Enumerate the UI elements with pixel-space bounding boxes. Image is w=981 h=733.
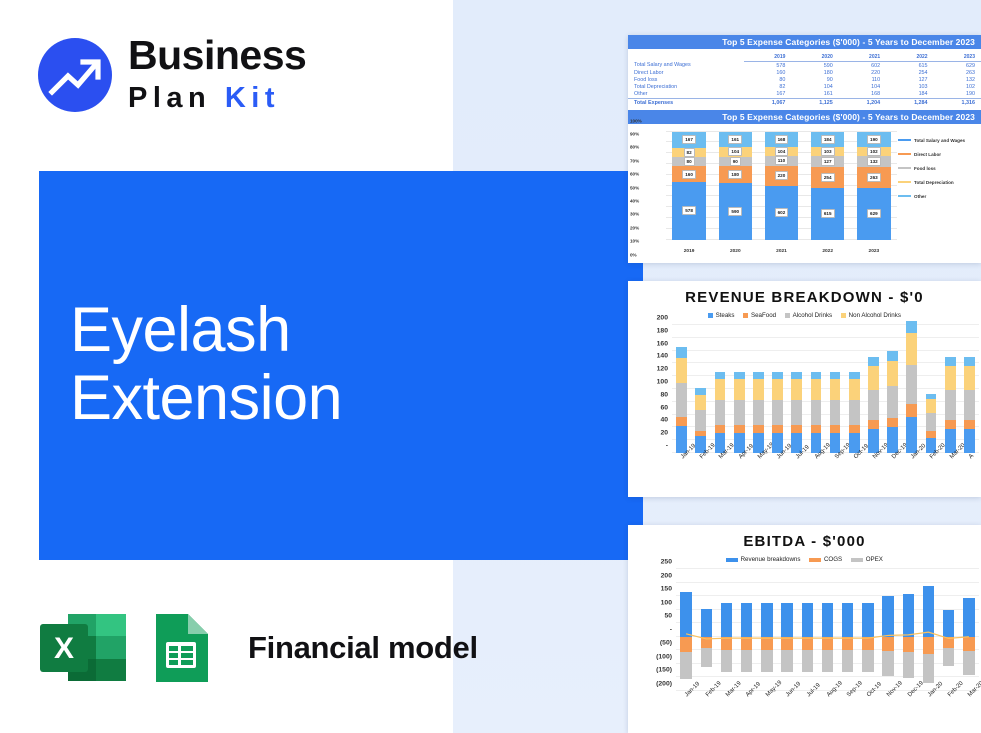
legend-swatch: [785, 313, 790, 318]
bar-segment: [887, 418, 898, 428]
bar-segment: [791, 425, 802, 433]
bar-segment: [734, 425, 745, 433]
table-col-header: 2020: [791, 53, 838, 62]
table-row: Food loss8090110127132: [628, 76, 981, 83]
legend-swatch: [898, 167, 911, 168]
bar-segment: [849, 400, 860, 425]
bar-value-label: 180: [728, 170, 742, 179]
table-cell: 168: [839, 91, 886, 99]
legend-swatch: [809, 558, 821, 562]
legend-item: Total Salary and Wages: [898, 138, 978, 143]
bar-segment: 127: [811, 156, 844, 167]
bar-group: [676, 347, 687, 453]
table-cell: 615: [886, 62, 933, 70]
table-row-label: Food loss: [628, 76, 744, 83]
table-header-row: 20192020202120222023: [628, 53, 981, 62]
bar-segment: [811, 379, 822, 399]
table-row: Total Salary and Wages578590602615629: [628, 62, 981, 70]
y-axis-tick-label: 0%: [630, 252, 637, 257]
bar-segment: [945, 390, 956, 419]
bar-segment: 602: [765, 186, 798, 240]
bar-segment: 167: [672, 132, 705, 149]
bar-segment: [868, 420, 879, 429]
y-axis-tick-label: 200: [657, 315, 668, 322]
page-title: Eyelash Extension: [70, 296, 630, 432]
bar-segment: [715, 372, 726, 380]
bar-segment: [676, 417, 687, 426]
bar-value-label: 127: [821, 157, 835, 166]
bar-group: 1678280160578: [666, 132, 712, 240]
bar-segment: [849, 379, 860, 399]
ebitda-chart-legend: Revenue breakdownsCOGSOPEX: [628, 556, 981, 563]
revenue-chart-legend: SteaksSeaFoodAlcohol DrinksNon Alcohol D…: [628, 312, 981, 319]
bar-segment: 184: [811, 132, 844, 147]
y-axis-tick-label: 150: [661, 586, 672, 593]
legend-swatch: [708, 313, 713, 318]
bar-group: [906, 321, 917, 453]
bar-segment: [811, 372, 822, 380]
bar-segment: [945, 420, 956, 429]
x-axis-tick-label: 2020: [730, 249, 741, 254]
y-axis-tick-label: 50: [664, 613, 672, 620]
stacked-bar: 16110490180590: [719, 132, 752, 240]
bar-segment: [906, 321, 917, 334]
bar-segment: [753, 372, 764, 380]
bar-segment: [849, 425, 860, 433]
y-axis-tick-label: 250: [661, 559, 672, 566]
bar-segment: 80: [672, 157, 705, 166]
table-cell: 1,204: [839, 98, 886, 106]
table-col-header: 2023: [934, 53, 981, 62]
y-axis-tick-label: -: [670, 626, 672, 633]
table-cell: 578: [744, 62, 791, 70]
y-axis-tick-label: 120: [657, 366, 668, 373]
bar-value-label: 90: [730, 157, 741, 166]
y-axis-tick-label: (50): [660, 640, 672, 647]
revenue-chart-plot-area: -20406080100120140160180200Jan-19Feb-19M…: [672, 325, 979, 453]
table-cell: 110: [839, 76, 886, 83]
bar-value-label: 167: [682, 135, 696, 144]
bar-segment: [906, 333, 917, 365]
legend-swatch: [841, 313, 846, 318]
bar-segment: [887, 361, 898, 387]
legend-label: OPEX: [866, 556, 883, 563]
bar-segment: [926, 394, 937, 400]
table-cell: 184: [886, 91, 933, 99]
table-row-label: Total Depreciation: [628, 84, 744, 91]
bar-segment: [964, 366, 975, 390]
y-axis-tick-label: 100: [661, 599, 672, 606]
bar-segment: [868, 390, 879, 419]
y-axis-tick-label: (100): [656, 653, 672, 660]
bar-value-label: 168: [775, 135, 789, 144]
bar-value-label: 629: [867, 209, 881, 218]
y-axis-tick-label: 60%: [630, 172, 639, 177]
table-total-row: Total Expenses1,0671,1251,2041,2841,316: [628, 98, 981, 106]
y-axis-tick-label: 10%: [630, 239, 639, 244]
bar-segment: [964, 420, 975, 429]
bar-segment: [753, 379, 764, 399]
table-col-header: 2019: [744, 53, 791, 62]
x-axis-tick-label: 2019: [684, 249, 695, 254]
file-format-row: X Financial model: [38, 612, 478, 684]
bar-segment: 180: [719, 166, 752, 183]
y-axis-tick-label: 20: [660, 430, 668, 437]
stacked-bar: 1678280160578: [672, 132, 705, 240]
bar-value-label: 82: [684, 148, 695, 157]
bar-group: [964, 357, 975, 453]
bar-value-label: 184: [821, 135, 835, 144]
legend-item: Direct Labor: [898, 152, 978, 157]
bar-value-label: 160: [682, 170, 696, 179]
stacked-bar: 184103127254615: [811, 132, 844, 240]
svg-text:X: X: [54, 632, 74, 665]
excel-icon: X: [38, 612, 128, 684]
gridline: [672, 362, 979, 363]
bar-value-label: 104: [728, 147, 742, 156]
bar-segment: [772, 425, 783, 433]
table-cell: 629: [934, 62, 981, 70]
bar-value-label: 103: [821, 147, 835, 156]
bar-segment: [715, 425, 726, 433]
expense-stacked-percent-chart: 1678280160578161104901805901681041102206…: [628, 124, 981, 258]
bar-segment: [676, 347, 687, 358]
bar-group: [734, 372, 745, 453]
table-cell: 80: [744, 76, 791, 83]
expense-chart-legend: Total Salary and WagesDirect LaborFood l…: [898, 138, 978, 208]
table-row: Total Depreciation82104104103102: [628, 84, 981, 91]
ebitda-chart-plot-area: 25020015010050-(50)(100)(150)(200)Jan-19…: [676, 569, 979, 691]
table-cell: 1,316: [934, 98, 981, 106]
ebitda-line-series: [676, 569, 979, 691]
bar-group: [791, 372, 802, 453]
table-row: Other167161168184190: [628, 91, 981, 99]
table-cell: 602: [839, 62, 886, 70]
bar-segment: [811, 400, 822, 425]
brand-logo: Business Plan Kit: [36, 32, 356, 124]
legend-label: Revenue breakdowns: [741, 556, 801, 563]
bar-segment: 615: [811, 188, 844, 240]
bar-segment: 132: [857, 156, 890, 167]
bar-segment: 160: [672, 166, 705, 182]
bar-segment: [753, 400, 764, 425]
table-col-header: [628, 53, 744, 62]
bar-segment: 578: [672, 182, 705, 239]
legend-label: Alcohol Drinks: [793, 312, 833, 319]
table-cell: 1,284: [886, 98, 933, 106]
bar-segment: [906, 365, 917, 404]
legend-label: Steaks: [716, 312, 735, 319]
legend-label: COGS: [824, 556, 842, 563]
table-cell: 167: [744, 91, 791, 99]
bar-segment: [926, 431, 937, 437]
table-cell: 127: [886, 76, 933, 83]
expense-chart-title: Top 5 Expense Categories ($'000) - 5 Yea…: [628, 110, 981, 124]
bar-segment: 161: [719, 132, 752, 147]
growth-arrow-icon: [36, 36, 114, 114]
bar-segment: [772, 400, 783, 425]
legend-item: Food loss: [898, 166, 978, 171]
bar-group: [887, 351, 898, 453]
bar-segment: 190: [857, 132, 890, 148]
revenue-chart-title: REVENUE BREAKDOWN - $'0: [628, 289, 981, 306]
y-axis-tick-label: 70%: [630, 158, 639, 163]
table-row-label: Other: [628, 91, 744, 99]
bar-segment: 110: [765, 156, 798, 166]
bar-value-label: 102: [867, 147, 881, 156]
table-cell: 180: [791, 69, 838, 76]
table-row: Direct Labor160180220254263: [628, 69, 981, 76]
y-axis-tick-label: 40: [660, 417, 668, 424]
bar-segment: [926, 399, 937, 413]
bar-segment: 103: [811, 147, 844, 156]
y-axis-tick-label: 40%: [630, 198, 639, 203]
table-row-label: Total Expenses: [628, 98, 744, 106]
table-cell: 220: [839, 69, 886, 76]
page-title-line-2: Extension: [70, 364, 630, 432]
x-axis-tick-label: 2021: [776, 249, 787, 254]
table-row-label: Direct Labor: [628, 69, 744, 76]
bar-segment: 263: [857, 167, 890, 188]
legend-swatch: [898, 139, 911, 140]
legend-label: Total Depreciation: [914, 180, 954, 185]
legend-item: Other: [898, 194, 978, 199]
bar-segment: [811, 425, 822, 433]
table-cell: 132: [934, 76, 981, 83]
bar-segment: [791, 372, 802, 380]
bar-group: [811, 372, 822, 453]
bar-segment: 254: [811, 167, 844, 188]
legend-item: Revenue breakdowns: [726, 556, 800, 563]
bar-segment: [772, 372, 783, 380]
brand-kit-text: Kit: [225, 82, 280, 114]
bar-segment: [830, 400, 841, 425]
bar-segment: [791, 400, 802, 425]
bar-segment: [676, 358, 687, 384]
file-format-label: Financial model: [248, 630, 478, 666]
table-cell: 254: [886, 69, 933, 76]
legend-swatch: [898, 181, 911, 182]
bar-segment: [753, 425, 764, 433]
table-cell: 104: [791, 84, 838, 91]
bar-segment: [830, 379, 841, 399]
stacked-bar: 168104110220602: [765, 132, 798, 240]
bar-value-label: 220: [775, 171, 789, 180]
y-axis-tick-label: 60: [660, 404, 668, 411]
y-axis-tick-label: 50%: [630, 185, 639, 190]
bar-value-label: 590: [728, 207, 742, 216]
brand-line-2: Plan Kit: [128, 78, 358, 118]
bar-group: 190102132263629: [851, 132, 897, 240]
legend-swatch: [851, 558, 863, 562]
bar-segment: [906, 417, 917, 453]
bar-segment: [734, 400, 745, 425]
bar-segment: 102: [857, 147, 890, 156]
table-cell: 104: [839, 84, 886, 91]
table-cell: 1,067: [744, 98, 791, 106]
table-row-label: Total Salary and Wages: [628, 62, 744, 70]
y-axis-tick-label: 180: [657, 327, 668, 334]
bar-segment: [676, 383, 687, 417]
legend-swatch: [726, 558, 738, 562]
bar-segment: [695, 431, 706, 437]
bar-segment: [964, 390, 975, 419]
stacked-bar: 190102132263629: [857, 132, 890, 240]
bar-segment: [830, 425, 841, 433]
bar-group: [830, 372, 841, 453]
gridline: [672, 324, 979, 325]
bar-value-label: 161: [728, 135, 742, 144]
legend-item: COGS: [809, 556, 842, 563]
bar-group: [868, 357, 879, 453]
bar-segment: [887, 351, 898, 361]
y-axis-tick-label: 200: [661, 572, 672, 579]
table-cell: 103: [886, 84, 933, 91]
y-axis-tick-label: 90%: [630, 131, 639, 136]
bar-segment: [887, 386, 898, 417]
expense-table: 20192020202120222023 Total Salary and Wa…: [628, 53, 981, 107]
bar-segment: [695, 395, 706, 410]
y-axis-tick-label: 100%: [630, 118, 642, 123]
bar-group: [772, 372, 783, 453]
bar-group: [926, 393, 937, 453]
brand-plan-text: Plan: [128, 82, 225, 114]
ebitda-chart-title: EBITDA - $'000: [628, 533, 981, 550]
legend-item: OPEX: [851, 556, 883, 563]
table-cell: 161: [791, 91, 838, 99]
bar-group: [695, 388, 706, 453]
legend-item: Steaks: [708, 312, 734, 319]
bar-segment: [964, 429, 975, 453]
expense-categories-card[interactable]: Top 5 Expense Categories ($'000) - 5 Yea…: [628, 35, 981, 263]
table-cell: 102: [934, 84, 981, 91]
x-axis-tick-label: 2023: [869, 249, 880, 254]
table-cell: 90: [791, 76, 838, 83]
gridline: [672, 337, 979, 338]
bar-value-label: 80: [684, 157, 695, 166]
y-axis-tick-label: -: [666, 443, 668, 450]
ebitda-card[interactable]: EBITDA - $'000 Revenue breakdownsCOGSOPE…: [628, 525, 981, 733]
legend-label: Other: [914, 194, 926, 199]
y-axis-tick-label: 20%: [630, 225, 639, 230]
bar-segment: [715, 379, 726, 399]
x-axis-tick-label: 2022: [822, 249, 833, 254]
table-col-header: 2022: [886, 53, 933, 62]
y-axis-tick-label: (150): [656, 667, 672, 674]
table-cell: 190: [934, 91, 981, 99]
table-cell: 1,125: [791, 98, 838, 106]
bar-value-label: 110: [775, 156, 788, 165]
bar-segment: 590: [719, 183, 752, 239]
bar-group: [849, 372, 860, 453]
bar-group: [945, 357, 956, 453]
bar-segment: [926, 413, 937, 431]
bar-group: 16110490180590: [712, 132, 758, 240]
legend-label: Total Salary and Wages: [914, 138, 965, 143]
bar-segment: [734, 379, 745, 399]
legend-item: Total Depreciation: [898, 180, 978, 185]
ebitda-chart-area: 25020015010050-(50)(100)(150)(200)Jan-19…: [628, 565, 981, 733]
bar-value-label: 132: [867, 157, 881, 166]
bar-value-label: 263: [867, 173, 881, 182]
bar-segment: 82: [672, 148, 705, 157]
y-axis-tick-label: 30%: [630, 212, 639, 217]
gridline: [672, 350, 979, 351]
bar-segment: [945, 357, 956, 366]
bar-segment: [945, 366, 956, 390]
bar-segment: [695, 410, 706, 430]
legend-label: SeaFood: [751, 312, 776, 319]
bar-segment: [734, 372, 745, 380]
bar-segment: [849, 372, 860, 380]
bar-segment: 104: [765, 147, 798, 156]
expense-table-title: Top 5 Expense Categories ($'000) - 5 Yea…: [628, 35, 981, 49]
y-axis-tick-label: 140: [657, 353, 668, 360]
revenue-breakdown-card[interactable]: REVENUE BREAKDOWN - $'0 SteaksSeaFoodAlc…: [628, 281, 981, 497]
bar-segment: 104: [719, 147, 752, 157]
x-axis-tick-label: A: [968, 453, 975, 460]
table-col-header: 2021: [839, 53, 886, 62]
legend-label: Direct Labor: [914, 152, 941, 157]
table-cell: 590: [791, 62, 838, 70]
bar-segment: 629: [857, 188, 890, 239]
legend-item: Non Alcohol Drinks: [841, 312, 901, 319]
bar-segment: 220: [765, 166, 798, 186]
bar-group: [715, 372, 726, 453]
bar-value-label: 578: [682, 206, 696, 215]
bar-group: 168104110220602: [758, 132, 804, 240]
bar-segment: [715, 400, 726, 425]
y-axis-tick-label: 80%: [630, 145, 639, 150]
bar-segment: [695, 388, 706, 395]
bar-segment: [830, 372, 841, 380]
table-cell: 82: [744, 84, 791, 91]
revenue-chart-area: -20406080100120140160180200Jan-19Feb-19M…: [628, 321, 981, 497]
y-axis-tick-label: 160: [657, 340, 668, 347]
expense-chart-plot-area: 1678280160578161104901805901681041102206…: [666, 132, 897, 240]
google-sheets-icon: [152, 612, 212, 684]
legend-label: Non Alcohol Drinks: [849, 312, 901, 319]
page-title-line-1: Eyelash: [70, 296, 630, 364]
legend-swatch: [898, 153, 911, 154]
bar-value-label: 615: [821, 209, 835, 218]
bar-segment: [906, 404, 917, 417]
bar-value-label: 254: [821, 173, 835, 182]
bar-segment: 168: [765, 132, 798, 147]
brand-line-1: Business: [128, 32, 358, 78]
bar-segment: [964, 357, 975, 366]
y-axis-tick-label: 100: [657, 379, 668, 386]
bar-value-label: 190: [867, 135, 881, 144]
bar-group: 184103127254615: [805, 132, 851, 240]
legend-item: Alcohol Drinks: [785, 312, 832, 319]
legend-label: Food loss: [914, 166, 936, 171]
bar-segment: 90: [719, 157, 752, 166]
bar-segment: [772, 379, 783, 399]
bar-segment: [791, 379, 802, 399]
y-axis-tick-label: (200): [656, 681, 672, 688]
legend-item: SeaFood: [743, 312, 776, 319]
bar-group: [753, 372, 764, 453]
table-cell: 263: [934, 69, 981, 76]
legend-swatch: [898, 195, 911, 196]
table-cell: 160: [744, 69, 791, 76]
bar-segment: [868, 357, 879, 366]
bar-value-label: 104: [775, 147, 789, 156]
legend-swatch: [743, 313, 748, 318]
bar-value-label: 602: [775, 208, 789, 217]
y-axis-tick-label: 80: [660, 391, 668, 398]
